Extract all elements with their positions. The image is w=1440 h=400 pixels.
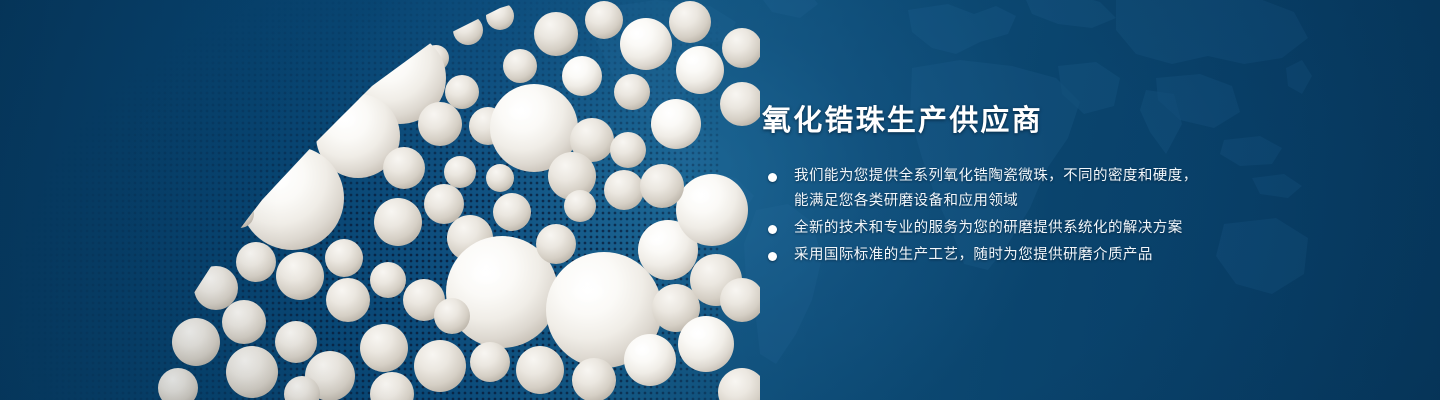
- bullet-text-line-1: 全新的技术和专业的服务为您的研磨提供系统化的解决方案: [794, 220, 1183, 236]
- list-item: 采用国际标准的生产工艺，随时为您提供研磨介质产品: [762, 243, 1382, 268]
- bullet-text-line-2: 能满足您各类研磨设备和应用领域: [794, 189, 1382, 214]
- list-item: 我们能为您提供全系列氧化锆陶瓷微珠，不同的密度和硬度， 能满足您各类研磨设备和应…: [762, 164, 1382, 214]
- feature-bullet-list: 我们能为您提供全系列氧化锆陶瓷微珠，不同的密度和硬度， 能满足您各类研磨设备和应…: [762, 164, 1382, 268]
- bullet-text-line-1: 我们能为您提供全系列氧化锆陶瓷微珠，不同的密度和硬度，: [794, 168, 1198, 184]
- list-item: 全新的技术和专业的服务为您的研磨提供系统化的解决方案: [762, 216, 1382, 241]
- bullet-dot-icon: [768, 173, 777, 182]
- bullet-dot-icon: [768, 225, 777, 234]
- hero-banner: 氧化锆珠生产供应商 我们能为您提供全系列氧化锆陶瓷微珠，不同的密度和硬度， 能满…: [0, 0, 1440, 400]
- banner-content: 氧化锆珠生产供应商 我们能为您提供全系列氧化锆陶瓷微珠，不同的密度和硬度， 能满…: [762, 104, 1382, 270]
- banner-headline: 氧化锆珠生产供应商: [762, 104, 1382, 138]
- bullet-text-line-1: 采用国际标准的生产工艺，随时为您提供研磨介质产品: [794, 247, 1153, 263]
- bullet-dot-icon: [768, 252, 777, 261]
